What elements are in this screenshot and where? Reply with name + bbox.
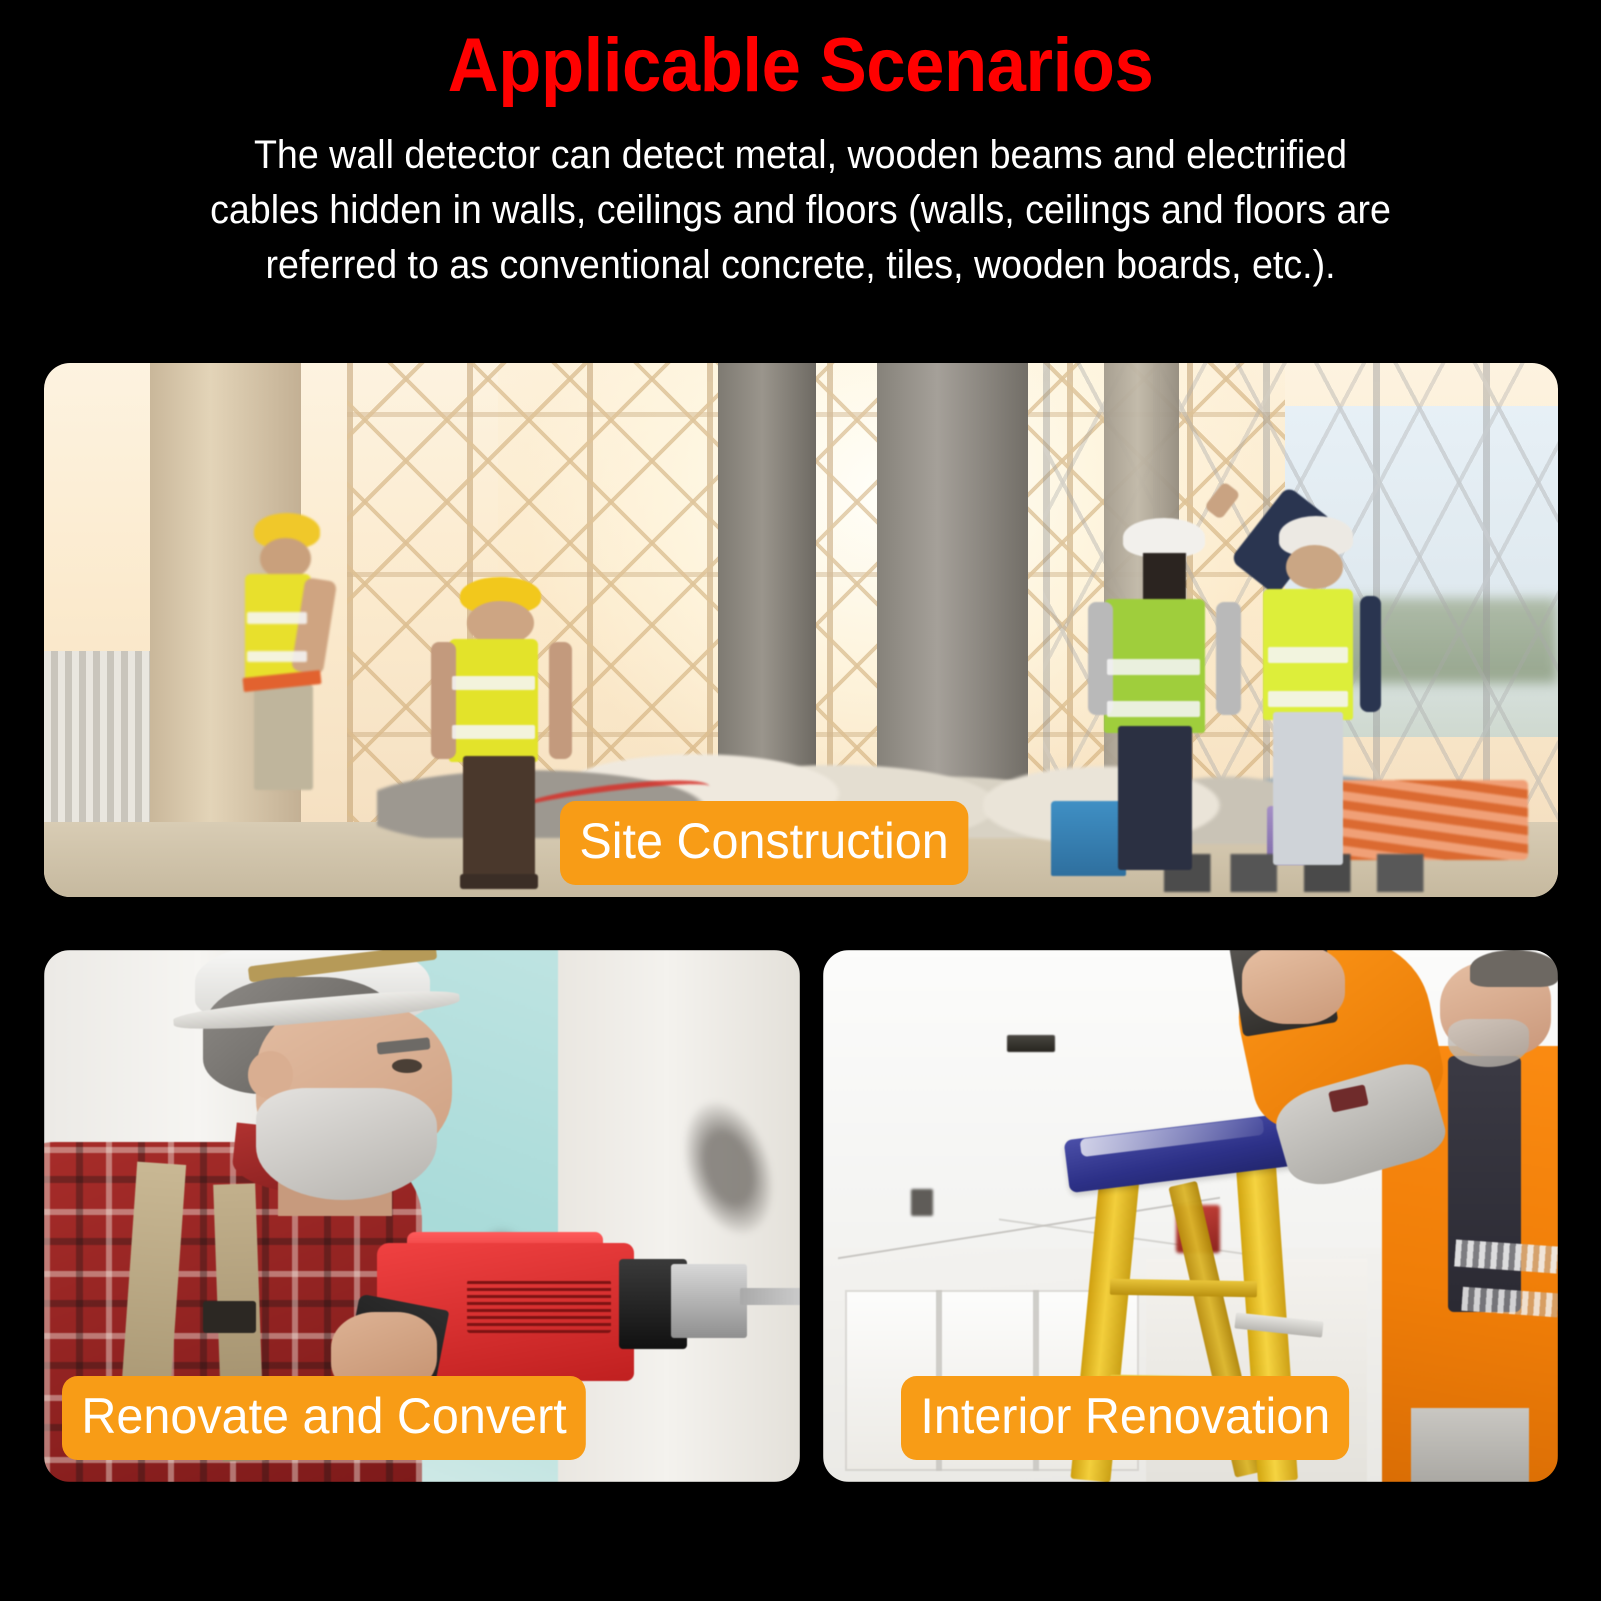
header: Applicable Scenarios The wall detector c… bbox=[0, 0, 1601, 294]
scenario-badge-renovate-and-convert: Renovate and Convert bbox=[62, 1376, 586, 1460]
description-line-1: The wall detector can detect metal, wood… bbox=[189, 128, 1412, 183]
raised-hand bbox=[1242, 950, 1345, 1024]
page-description: The wall detector can detect metal, wood… bbox=[48, 128, 1553, 294]
worker-pointing bbox=[1248, 502, 1377, 865]
ladder-step bbox=[1110, 1279, 1257, 1298]
description-line-2: cables hidden in walls, ceilings and flo… bbox=[189, 183, 1412, 238]
worker-yellow-vest-far bbox=[235, 513, 341, 791]
ceiling-fixture bbox=[1007, 1035, 1055, 1052]
hard-hat-icon bbox=[1123, 518, 1205, 557]
drill-bit bbox=[740, 1288, 800, 1305]
scenario-badge-site-construction: Site Construction bbox=[560, 801, 968, 885]
scenario-badge-interior-renovation: Interior Renovation bbox=[901, 1376, 1350, 1460]
applicable-scenarios-page: Applicable Scenarios The wall detector c… bbox=[0, 0, 1601, 1601]
scenario-card-renovate-and-convert[interactable]: Renovate and Convert bbox=[44, 950, 800, 1482]
page-title: Applicable Scenarios bbox=[56, 0, 1545, 104]
scenario-card-interior-renovation[interactable]: Interior Renovation bbox=[823, 950, 1558, 1482]
worker-green-vest bbox=[1096, 518, 1232, 870]
scenario-card-site-construction[interactable]: Site Construction bbox=[44, 363, 1558, 897]
worker-yellow-vest-near bbox=[429, 577, 573, 887]
description-line-3: referred to as conventional concrete, ti… bbox=[189, 238, 1412, 293]
